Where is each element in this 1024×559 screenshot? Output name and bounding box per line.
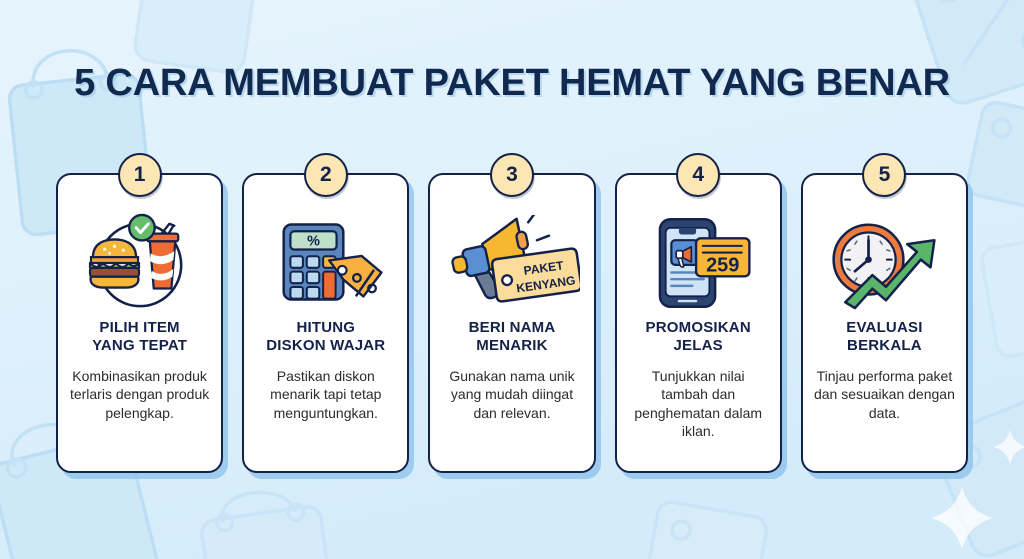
step-title-line2: JELAS [646,337,751,355]
megaphone-label-icon: PAKET KENYANG [442,213,582,313]
step-card-1[interactable]: 1 [56,173,223,473]
step-card-title-5: EVALUASI BERKALA [840,319,928,356]
steps-card-list: 1 [56,173,968,473]
step-number-badge-2: 2 [304,153,348,197]
step-number-badge-4: 4 [676,153,720,197]
calculator-discount-tag-icon: % [256,213,396,313]
clock-growth-arrow-icon [814,213,954,313]
step-number-badge-3: 3 [490,153,534,197]
step-card-4[interactable]: 4 [615,173,782,473]
step-card-title-3: BERI NAMA MENARIK [463,319,562,356]
step-title-line1: PILIH ITEM [92,319,187,337]
step-card-title-2: HITUNG DISKON WAJAR [260,319,391,356]
step-card-description-2: Pastikan diskon menarik tapi tetap mengu… [244,367,407,423]
page-title: 5 CARA MEMBUAT PAKET HEMAT YANG BENAR [74,62,950,105]
step-card-title-1: PILIH ITEM YANG TEPAT [86,319,193,356]
step-card-2[interactable]: 2 % [242,173,409,473]
promo-badge-value: 259 [706,255,739,277]
step-title-line1: PROMOSIKAN [646,319,751,337]
step-number-badge-1: 1 [118,153,162,197]
step-card-title-4: PROMOSIKAN JELAS [640,319,757,356]
step-card-description-1: Kombinasikan produk terlaris dengan prod… [58,367,221,423]
step-title-line1: BERI NAMA [469,319,556,337]
step-card-description-5: Tinjau performa paket dan sesuaikan deng… [803,367,966,423]
step-title-line2: MENARIK [469,337,556,355]
step-title-line2: BERKALA [846,337,922,355]
smartphone-promo-badge-icon: 259 [628,213,768,313]
step-card-3[interactable]: 3 [428,173,595,473]
step-title-line1: EVALUASI [846,319,922,337]
infographic-page: 5 CARA MEMBUAT PAKET HEMAT YANG BENAR 1 [0,0,1024,559]
step-card-5[interactable]: 5 [801,173,968,473]
step-title-line1: HITUNG [266,319,385,337]
step-title-line2: YANG TEPAT [92,337,187,355]
burger-and-drink-check-icon [70,213,210,313]
step-card-description-3: Gunakan nama unik yang mudah diingat dan… [430,367,593,423]
svg-text:%: % [307,234,320,250]
step-number-badge-5: 5 [862,153,906,197]
step-card-description-4: Tunjukkan nilai tambah dan penghematan d… [617,367,780,441]
step-title-line2: DISKON WAJAR [266,337,385,355]
